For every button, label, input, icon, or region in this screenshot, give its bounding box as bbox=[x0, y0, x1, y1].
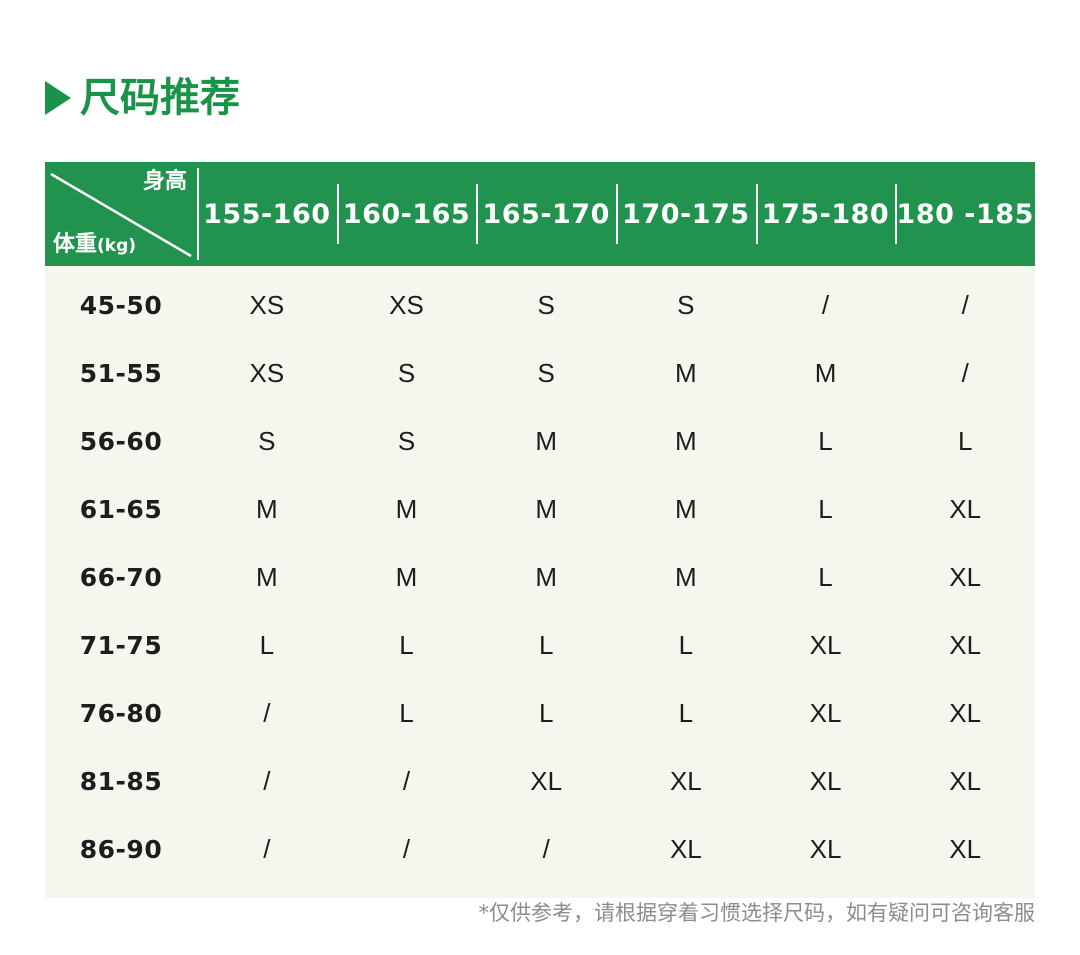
table-row: 66-70 M M M M L XL bbox=[45, 543, 1035, 611]
cell-0-0: XS bbox=[197, 290, 337, 321]
cell-7-2: XL bbox=[476, 766, 616, 797]
cell-5-1: L bbox=[337, 630, 477, 661]
table-row: 81-85 / / XL XL XL XL bbox=[45, 747, 1035, 815]
cell-6-5: XL bbox=[895, 698, 1035, 729]
footnote-text: *仅供参考，请根据穿着习惯选择尺码，如有疑问可咨询客服 bbox=[479, 897, 1036, 927]
page-title: 尺码推荐 bbox=[45, 78, 240, 118]
cell-2-2: M bbox=[476, 426, 616, 457]
cell-4-4: L bbox=[756, 562, 896, 593]
cell-7-3: XL bbox=[616, 766, 756, 797]
cell-8-3: XL bbox=[616, 834, 756, 865]
corner-height-label: 身高 bbox=[143, 171, 187, 193]
table-row: 45-50 XS XS S S / / bbox=[45, 271, 1035, 339]
page-title-label: 尺码推荐 bbox=[80, 78, 240, 118]
row-header-7: 81-85 bbox=[45, 767, 197, 796]
row-header-6: 76-80 bbox=[45, 699, 197, 728]
cell-8-1: / bbox=[337, 834, 477, 865]
cell-8-5: XL bbox=[895, 834, 1035, 865]
table-row: 51-55 XS S S M M / bbox=[45, 339, 1035, 407]
size-recommendation-table: 身高 体重(kg) 155-160 160-165 165-170 170-17… bbox=[45, 162, 1035, 898]
size-chart-page: 尺码推荐 身高 体重(kg) 155-160 160-165 165-170 1… bbox=[0, 0, 1080, 955]
cell-6-4: XL bbox=[756, 698, 896, 729]
row-header-8: 86-90 bbox=[45, 835, 197, 864]
cell-0-2: S bbox=[476, 290, 616, 321]
cell-4-5: XL bbox=[895, 562, 1035, 593]
cell-1-1: S bbox=[337, 358, 477, 389]
cell-1-5: / bbox=[895, 358, 1035, 389]
cell-3-4: L bbox=[756, 494, 896, 525]
column-header-1: 160-165 bbox=[337, 162, 477, 266]
row-header-3: 61-65 bbox=[45, 495, 197, 524]
corner-weight-label: 体重(kg) bbox=[53, 234, 136, 256]
cell-8-4: XL bbox=[756, 834, 896, 865]
cell-4-2: M bbox=[476, 562, 616, 593]
table-row: 71-75 L L L L XL XL bbox=[45, 611, 1035, 679]
cell-5-4: XL bbox=[756, 630, 896, 661]
column-header-2: 165-170 bbox=[476, 162, 616, 266]
cell-0-3: S bbox=[616, 290, 756, 321]
cell-2-4: L bbox=[756, 426, 896, 457]
cell-3-3: M bbox=[616, 494, 756, 525]
column-headers: 155-160 160-165 165-170 170-175 175-180 … bbox=[197, 162, 1035, 266]
cell-4-3: M bbox=[616, 562, 756, 593]
cell-0-5: / bbox=[895, 290, 1035, 321]
cell-1-4: M bbox=[756, 358, 896, 389]
table-row: 56-60 S S M M L L bbox=[45, 407, 1035, 475]
row-header-5: 71-75 bbox=[45, 631, 197, 660]
cell-2-0: S bbox=[197, 426, 337, 457]
cell-4-0: M bbox=[197, 562, 337, 593]
cell-2-5: L bbox=[895, 426, 1035, 457]
cell-0-4: / bbox=[756, 290, 896, 321]
column-header-3: 170-175 bbox=[616, 162, 756, 266]
table-row: 76-80 / L L L XL XL bbox=[45, 679, 1035, 747]
play-triangle-icon bbox=[45, 81, 71, 115]
cell-5-3: L bbox=[616, 630, 756, 661]
cell-7-1: / bbox=[337, 766, 477, 797]
table-body: 45-50 XS XS S S / / 51-55 XS S S M M bbox=[45, 266, 1035, 898]
cell-3-2: M bbox=[476, 494, 616, 525]
table-corner-cell: 身高 体重(kg) bbox=[45, 162, 197, 266]
column-header-5: 180 -185 bbox=[895, 162, 1035, 266]
row-header-4: 66-70 bbox=[45, 563, 197, 592]
cell-5-5: XL bbox=[895, 630, 1035, 661]
cell-4-1: M bbox=[337, 562, 477, 593]
row-header-1: 51-55 bbox=[45, 359, 197, 388]
cell-3-1: M bbox=[337, 494, 477, 525]
cell-1-3: M bbox=[616, 358, 756, 389]
cell-2-3: M bbox=[616, 426, 756, 457]
cell-3-0: M bbox=[197, 494, 337, 525]
cell-1-2: S bbox=[476, 358, 616, 389]
table-row: 61-65 M M M M L XL bbox=[45, 475, 1035, 543]
cell-7-0: / bbox=[197, 766, 337, 797]
cell-3-5: XL bbox=[895, 494, 1035, 525]
cell-0-1: XS bbox=[337, 290, 477, 321]
cell-7-5: XL bbox=[895, 766, 1035, 797]
cell-6-3: L bbox=[616, 698, 756, 729]
cell-8-0: / bbox=[197, 834, 337, 865]
cell-1-0: XS bbox=[197, 358, 337, 389]
cell-6-2: L bbox=[476, 698, 616, 729]
cell-7-4: XL bbox=[756, 766, 896, 797]
row-header-2: 56-60 bbox=[45, 427, 197, 456]
cell-5-0: L bbox=[197, 630, 337, 661]
row-header-0: 45-50 bbox=[45, 291, 197, 320]
cell-6-1: L bbox=[337, 698, 477, 729]
cell-8-2: / bbox=[476, 834, 616, 865]
cell-5-2: L bbox=[476, 630, 616, 661]
cell-6-0: / bbox=[197, 698, 337, 729]
table-row: 86-90 / / / XL XL XL bbox=[45, 815, 1035, 883]
table-header-row: 身高 体重(kg) 155-160 160-165 165-170 170-17… bbox=[45, 162, 1035, 266]
cell-2-1: S bbox=[337, 426, 477, 457]
column-header-4: 175-180 bbox=[756, 162, 896, 266]
column-header-0: 155-160 bbox=[197, 162, 337, 266]
